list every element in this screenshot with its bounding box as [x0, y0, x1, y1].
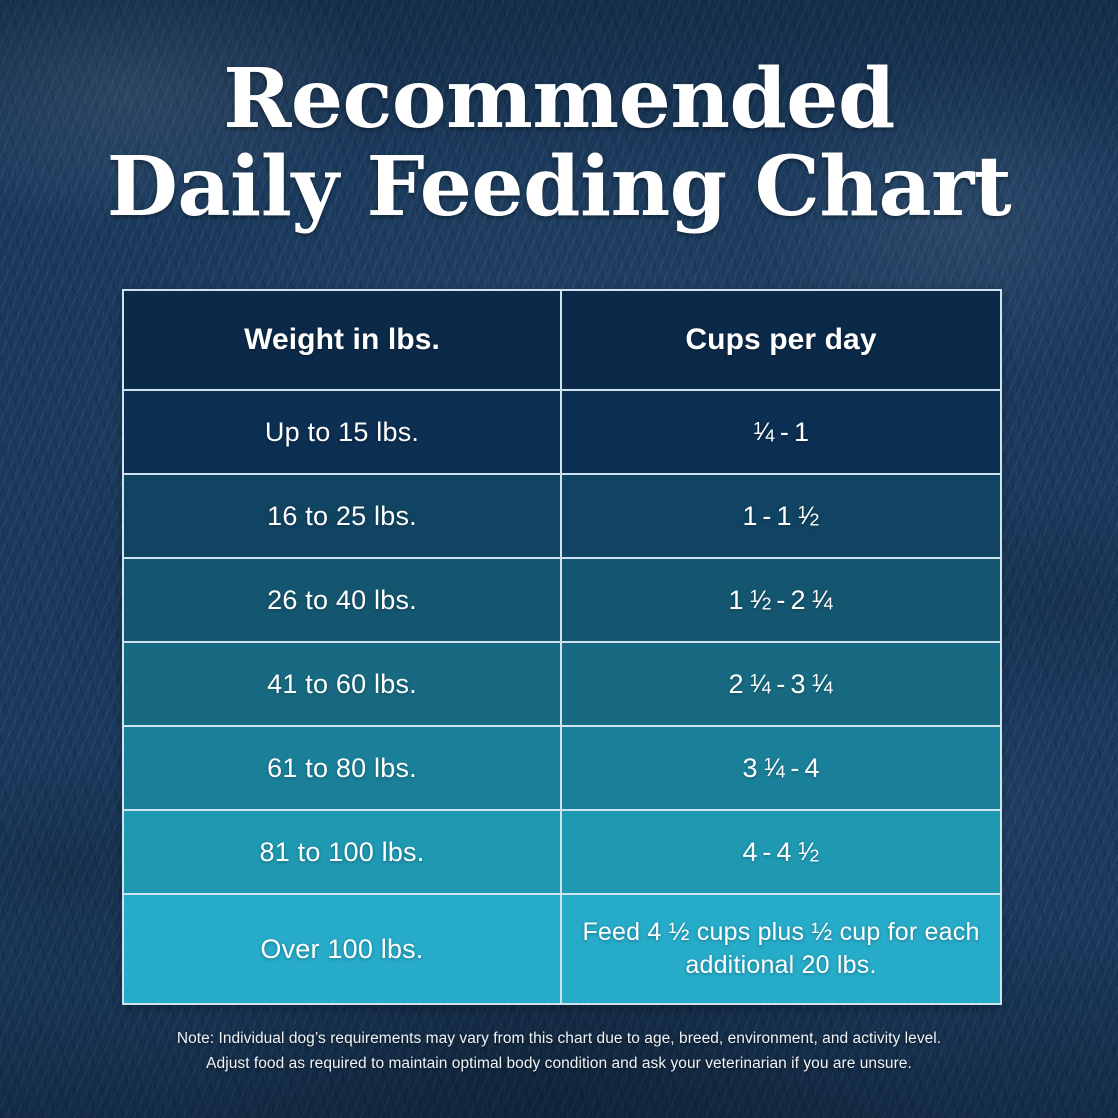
feeding-chart-table: Weight in lbs. Cups per day Up to 15 lbs… — [122, 289, 1002, 1005]
table-row: Over 100 lbs. Feed 4 ½ cups plus ½ cup f… — [123, 894, 1001, 1004]
table-row: Up to 15 lbs. 1⁄4-1 — [123, 390, 1001, 474]
cell-weight-range: 16 to 25 lbs. — [123, 474, 561, 558]
cell-weight-range: Over 100 lbs. — [123, 894, 561, 1004]
table-row: 81 to 100 lbs. 4-41⁄2 — [123, 810, 1001, 894]
table-row: 41 to 60 lbs. 21⁄4-31⁄4 — [123, 642, 1001, 726]
column-header-weight: Weight in lbs. — [123, 290, 561, 390]
footnote: Note: Individual dog’s requirements may … — [0, 1026, 1118, 1076]
cell-weight-range: 41 to 60 lbs. — [123, 642, 561, 726]
cell-cups-amount: Feed 4 ½ cups plus ½ cup for each additi… — [561, 894, 1001, 1004]
cell-weight-range: Up to 15 lbs. — [123, 390, 561, 474]
cell-weight-range: 81 to 100 lbs. — [123, 810, 561, 894]
table-header-row: Weight in lbs. Cups per day — [123, 290, 1001, 390]
cell-cups-amount: 11⁄2-21⁄4 — [561, 558, 1001, 642]
table-row: 26 to 40 lbs. 11⁄2-21⁄4 — [123, 558, 1001, 642]
cell-cups-amount: 1-11⁄2 — [561, 474, 1001, 558]
table-row: 61 to 80 lbs. 31⁄4-4 — [123, 726, 1001, 810]
column-header-cups: Cups per day — [561, 290, 1001, 390]
title-line-1: Recommended — [0, 58, 1118, 142]
cell-weight-range: 26 to 40 lbs. — [123, 558, 561, 642]
cell-cups-amount: 31⁄4-4 — [561, 726, 1001, 810]
title-line-2: Daily Feeding Chart — [0, 146, 1118, 230]
cell-weight-range: 61 to 80 lbs. — [123, 726, 561, 810]
cell-cups-amount: 21⁄4-31⁄4 — [561, 642, 1001, 726]
footnote-line-2: Adjust food as required to maintain opti… — [0, 1051, 1118, 1076]
feeding-chart-page: Recommended Daily Feeding Chart Weight i… — [0, 0, 1118, 1118]
page-title: Recommended Daily Feeding Chart — [0, 58, 1118, 229]
cell-cups-amount: 1⁄4-1 — [561, 390, 1001, 474]
cell-cups-amount: 4-41⁄2 — [561, 810, 1001, 894]
table-row: 16 to 25 lbs. 1-11⁄2 — [123, 474, 1001, 558]
footnote-line-1: Note: Individual dog’s requirements may … — [0, 1026, 1118, 1051]
